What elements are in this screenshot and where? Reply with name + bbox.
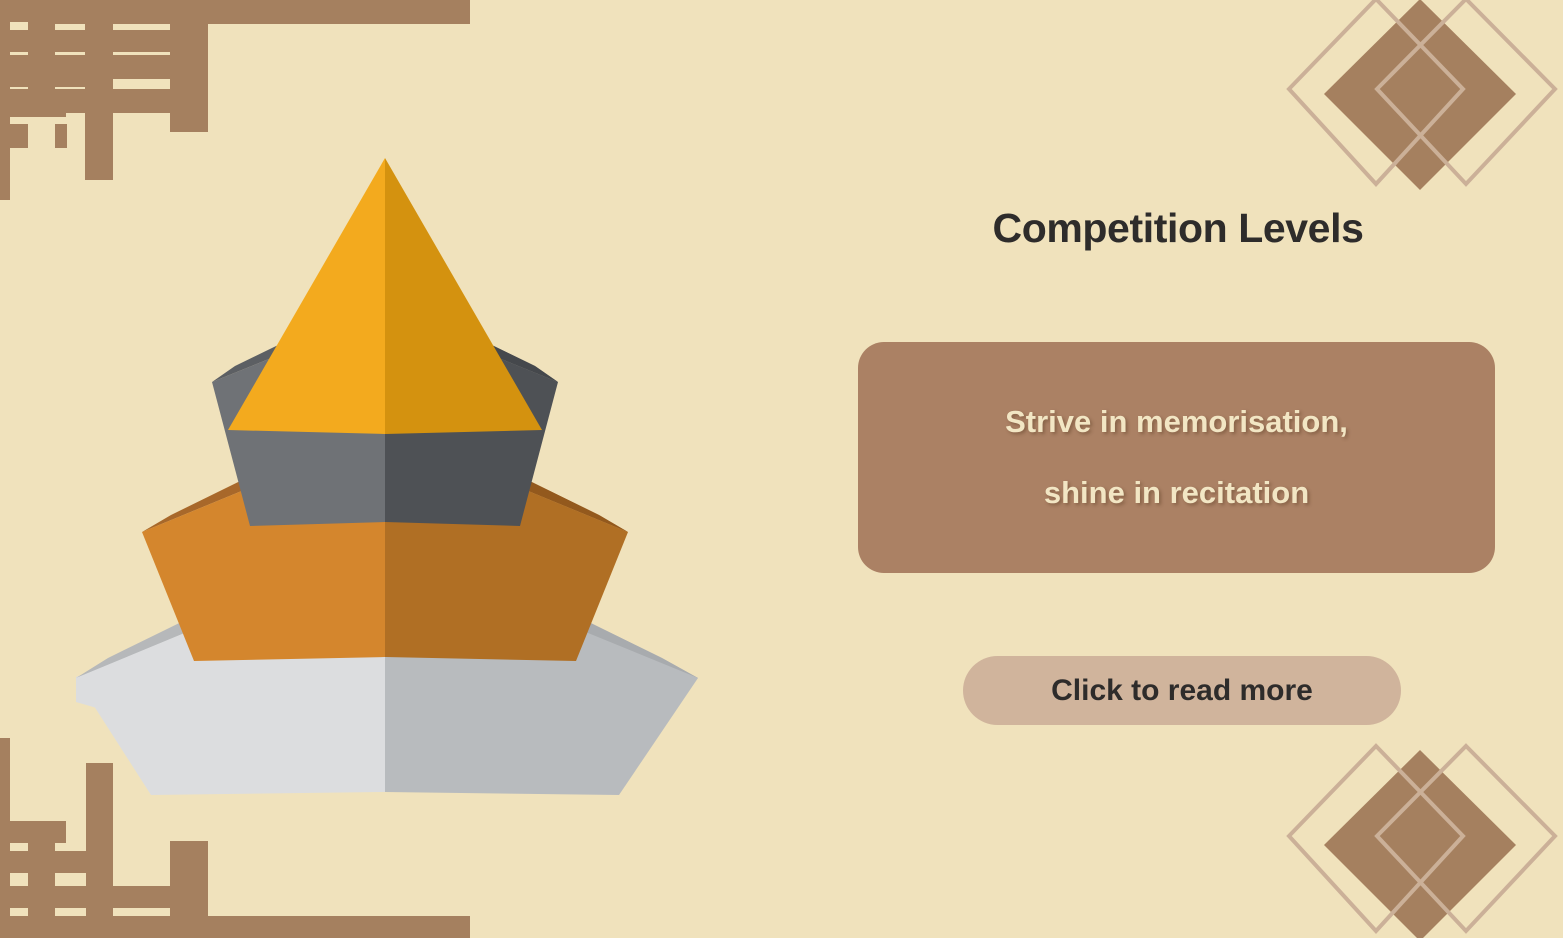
competition-levels-pyramid: [60, 140, 720, 800]
page-title: Competition Levels: [858, 205, 1498, 252]
pyramid-level-gold-apex: [228, 158, 542, 434]
tagline-line-2: shine in recitation: [1044, 476, 1309, 510]
slide-root: Competition Levels Strive in memorisatio…: [0, 0, 1563, 938]
content-column: Competition Levels Strive in memorisatio…: [858, 0, 1498, 938]
read-more-button[interactable]: Click to read more: [963, 656, 1401, 725]
tagline-card: Strive in memorisation, shine in recitat…: [858, 342, 1495, 573]
tagline-line-1: Strive in memorisation,: [1005, 405, 1348, 439]
